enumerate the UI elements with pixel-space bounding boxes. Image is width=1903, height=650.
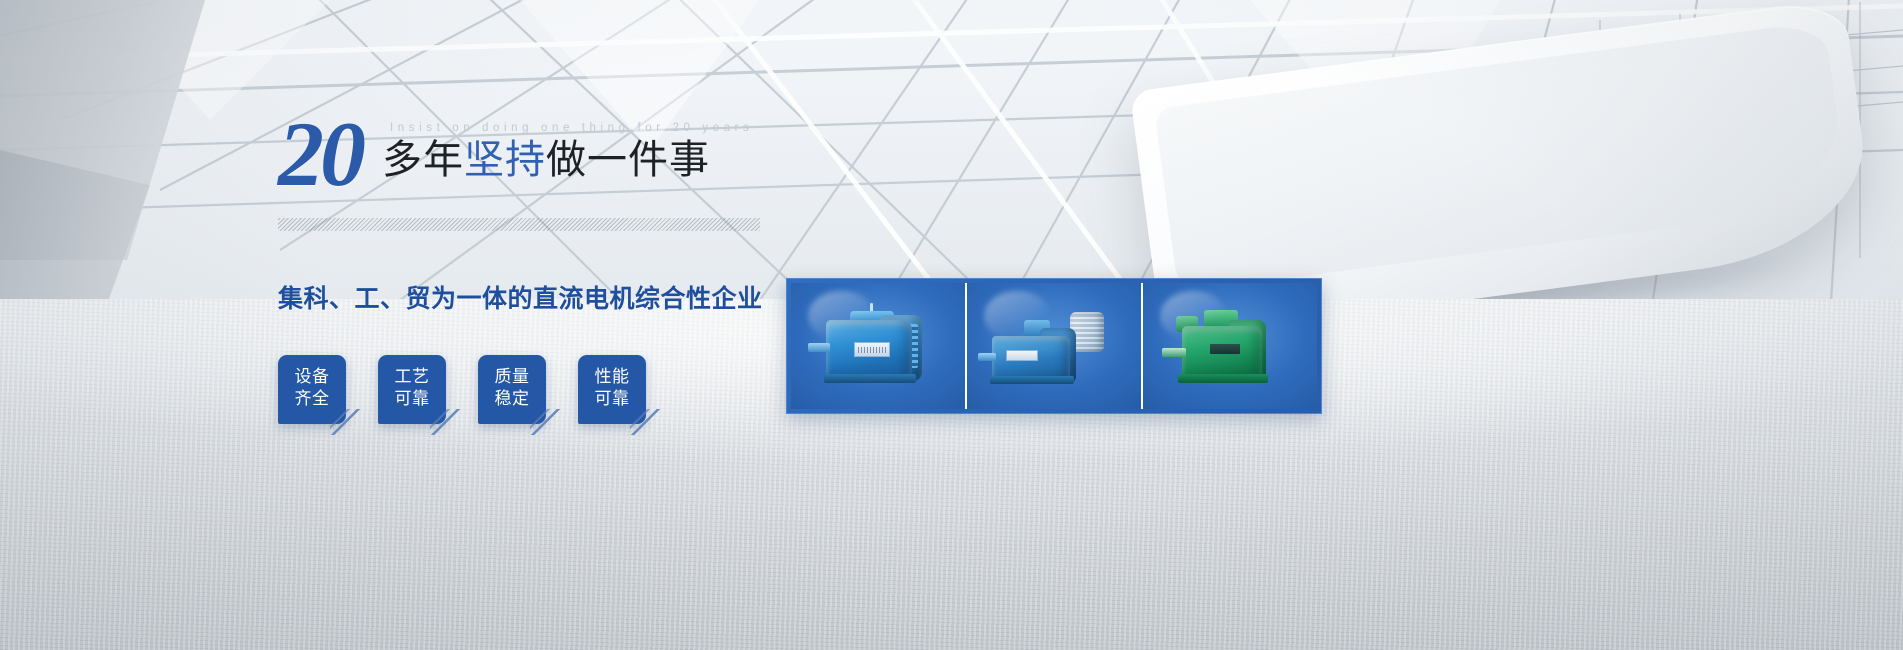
feature-badge[interactable]: 性能 可靠 (578, 355, 646, 424)
banner-subtitle: 集科、工、贸为一体的直流电机综合性企业 (278, 279, 798, 315)
hero-banner: 20 Insist on doing one thing for 20 year… (0, 0, 1903, 650)
green-dc-motor-icon (1154, 298, 1306, 394)
product-cell-1[interactable] (791, 283, 965, 409)
blue-motor-with-blower-icon (978, 298, 1130, 394)
headline-highlight: 坚持 (464, 138, 546, 182)
headline-lead: 多年 (382, 138, 464, 182)
badge-line-2: 可靠 (578, 388, 646, 410)
headline-tail: 做一件事 (546, 138, 710, 182)
product-cell-2[interactable] (965, 283, 1141, 409)
headline-row: 20 Insist on doing one thing for 20 year… (278, 116, 798, 196)
feature-badge[interactable]: 设备 齐全 (278, 355, 346, 424)
years-number: 20 (278, 108, 362, 200)
badge-line-2: 稳定 (478, 388, 546, 410)
product-cell-3[interactable] (1141, 283, 1317, 409)
feature-badge[interactable]: 工艺 可靠 (378, 355, 446, 424)
badge-line-1: 工艺 (395, 367, 430, 386)
banner-copy: 20 Insist on doing one thing for 20 year… (278, 116, 798, 424)
blue-dc-motor-icon (802, 298, 954, 394)
feature-badge[interactable]: 质量 稳定 (478, 355, 546, 424)
page-title: 多年坚持做一件事 (382, 138, 710, 182)
badge-line-2: 齐全 (278, 388, 346, 410)
badge-line-1: 质量 (495, 367, 530, 386)
badge-line-1: 设备 (295, 367, 330, 386)
hatched-divider (278, 218, 760, 231)
product-showcase-panel (786, 278, 1322, 414)
english-tagline: Insist on doing one thing for 20 years (390, 122, 753, 134)
badge-line-2: 可靠 (378, 388, 446, 410)
feature-badge-list: 设备 齐全 工艺 可靠 质量 稳定 性能 可靠 (278, 355, 798, 424)
badge-line-1: 性能 (595, 367, 630, 386)
